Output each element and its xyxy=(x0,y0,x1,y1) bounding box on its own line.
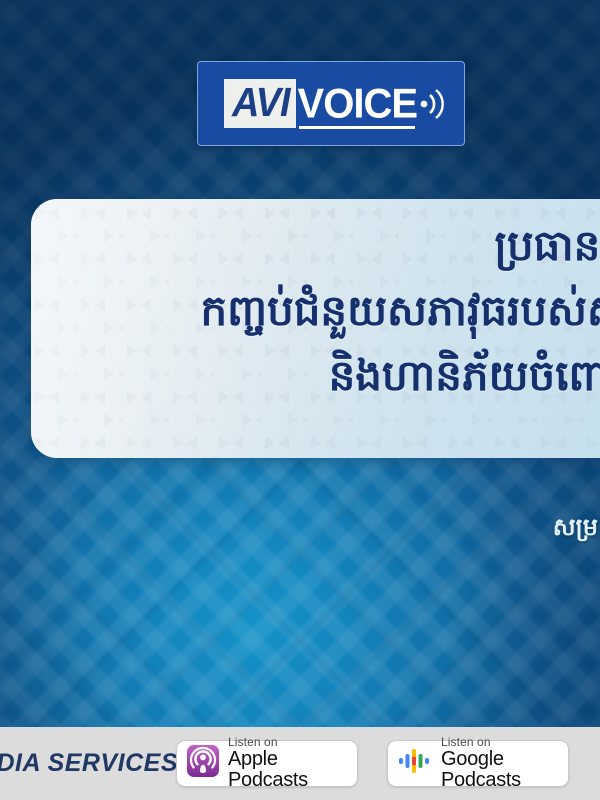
google-badge-small-label: Listen on xyxy=(441,736,568,749)
title-line-3: និងហានិភ័យចំពោះ xyxy=(31,343,600,408)
subtitle-text: សម្រ xyxy=(0,512,600,547)
podcast-cover-image: AVI VOICE xyxy=(0,0,600,800)
google-badge-big-label: Google Podcasts xyxy=(441,749,568,791)
logo-underline xyxy=(299,126,415,129)
google-podcasts-icon xyxy=(398,745,432,782)
apple-badge-big-label: Apple Podcasts xyxy=(228,749,357,791)
google-badge-word-google: Google xyxy=(441,748,504,770)
apple-badge-small-label: Listen on xyxy=(228,736,357,749)
apple-podcasts-icon xyxy=(187,745,219,782)
apple-badge-text: Listen on Apple Podcasts xyxy=(228,736,357,792)
brand-name-text: MEDIA SERVICES xyxy=(0,749,178,778)
title-line-1: ប្រធានប xyxy=(31,213,600,278)
avi-voice-logo: AVI VOICE xyxy=(197,61,465,146)
sound-wave-icon xyxy=(420,87,446,126)
logo-avi-box: AVI xyxy=(224,79,296,128)
title-text-block: ប្រធានប កញ្ចប់ជំនួយសភាវុធរបស់ស និងហានិភ័… xyxy=(31,213,600,408)
title-line-2: កញ្ចប់ជំនួយសភាវុធរបស់ស xyxy=(31,278,600,343)
google-badge-text: Listen on Google Podcasts xyxy=(441,736,568,792)
logo-voice-wrap: VOICE xyxy=(298,84,417,124)
google-badge-word-podcasts: Podcasts xyxy=(441,769,521,791)
logo-avi-text: AVI xyxy=(232,82,290,123)
apple-podcasts-badge[interactable]: Listen on Apple Podcasts xyxy=(176,740,358,787)
google-podcasts-badge[interactable]: Listen on Google Podcasts xyxy=(387,740,569,787)
bottom-bar: MEDIA SERVICES xyxy=(0,727,600,800)
title-panel: ប្រធានប កញ្ចប់ជំនួយសភាវុធរបស់ស និងហានិភ័… xyxy=(31,199,600,458)
logo-voice-text: VOICE xyxy=(298,83,417,125)
